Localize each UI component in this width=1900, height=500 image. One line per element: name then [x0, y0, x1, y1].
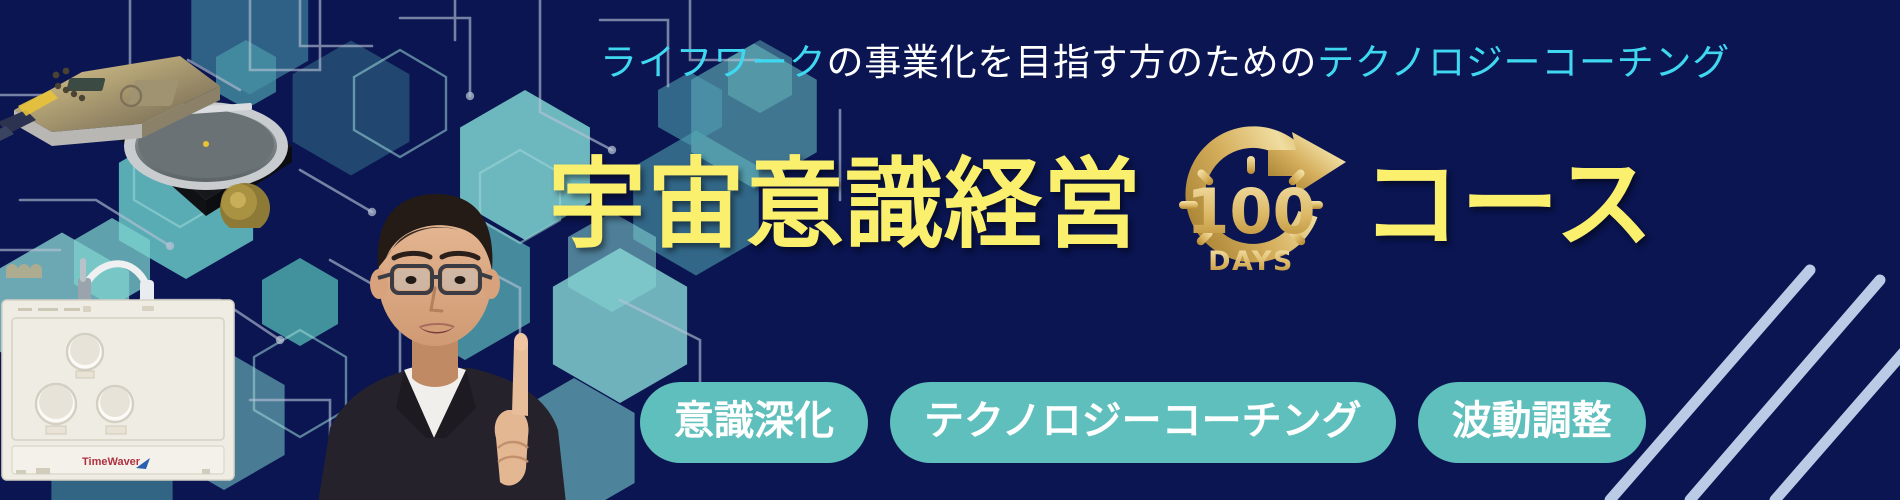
badge-number: 100 — [1186, 175, 1315, 248]
feature-pill-row: 意識深化 テクノロジーコーチング 波動調整 — [640, 382, 1890, 462]
svg-text:TimeWaver: TimeWaver — [82, 456, 141, 468]
device-white-photo: TimeWaver — [0, 240, 244, 500]
tagline: ライフワークの事業化を目指す方のためのテクノロジーコーチング — [600, 42, 1860, 85]
presenter-photo — [300, 138, 570, 500]
feature-pill[interactable]: 意識深化 — [640, 382, 868, 463]
clock-arrow-icon: 100 DAYS — [1146, 110, 1356, 300]
headline-tail: コース — [1362, 156, 1654, 254]
course-banner: TimeWaver — [0, 0, 1900, 500]
headline-lead: 宇宙意識経営 — [548, 156, 1142, 254]
tagline-part1: ライフワーク — [600, 42, 826, 83]
feature-pill[interactable]: テクノロジーコーチング — [890, 382, 1396, 463]
badge-unit: DAYS — [1208, 246, 1294, 277]
tagline-part3: テクノロジーコーチング — [1317, 42, 1730, 83]
feature-pill[interactable]: 波動調整 — [1418, 382, 1646, 463]
device-gold-photo — [0, 28, 322, 228]
tagline-part2: の事業化を目指す方のための — [826, 42, 1317, 83]
headline-row: 宇宙意識経営 — [548, 140, 1888, 270]
hundred-days-badge: 100 DAYS — [1146, 110, 1356, 300]
